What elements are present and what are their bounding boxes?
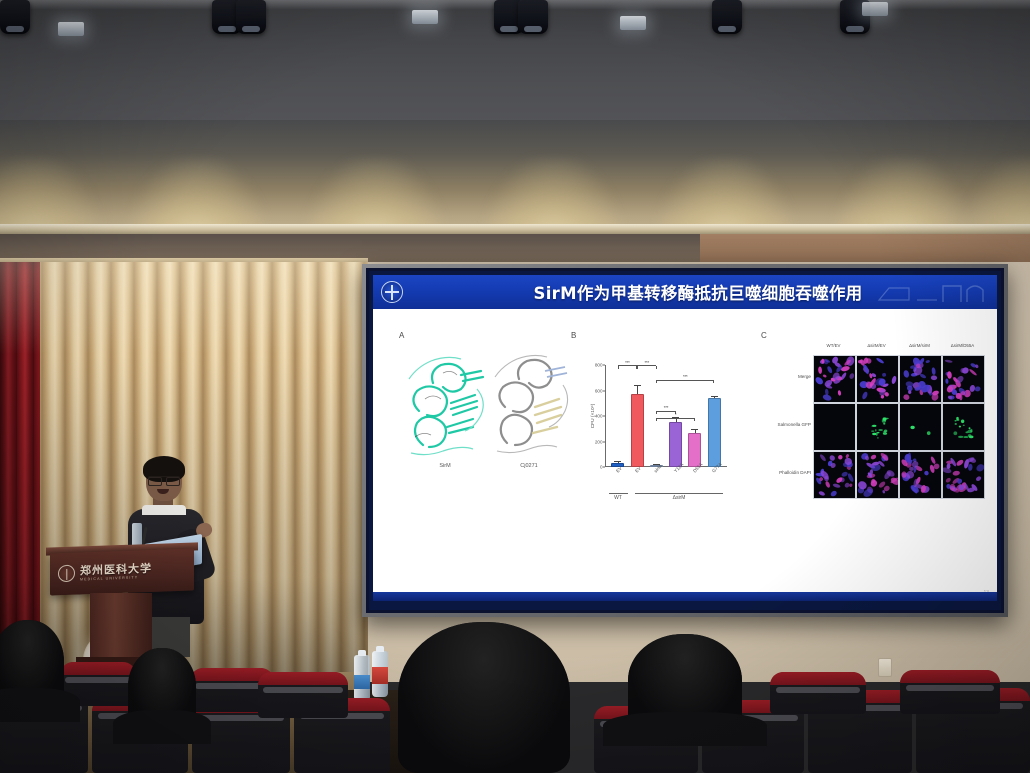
micro-cell xyxy=(900,356,941,402)
micro-column-header: ΔsirM/sirM xyxy=(898,343,942,348)
micro-cell xyxy=(943,452,984,498)
chart-significance-bracket xyxy=(656,380,714,381)
micro-cell xyxy=(943,356,984,402)
chart-group-label-wt: WT xyxy=(614,495,622,501)
slide-header: SirM作为甲基转移酶抵抗巨噬细胞吞噬作用 xyxy=(373,275,997,309)
ceiling-light-panel xyxy=(58,22,84,36)
chart-error-cap xyxy=(614,461,621,462)
seat-band xyxy=(65,677,132,683)
protein-caption-cj0271: Cj0271 xyxy=(499,463,559,469)
chart-y-tick-label: 200 xyxy=(595,439,603,444)
podium-stem xyxy=(90,593,152,663)
chart-significance-bracket xyxy=(637,365,656,366)
micro-row-label: Phalloidin DAPI xyxy=(761,470,811,476)
audience-shoulders xyxy=(113,710,211,744)
chart-bar xyxy=(631,394,644,467)
micro-column-header: ΔsirM/D55A xyxy=(941,343,985,348)
microscopy-grid xyxy=(813,355,985,499)
seat-band xyxy=(263,687,342,693)
institution-seal-icon xyxy=(381,281,403,303)
chart-y-axis xyxy=(605,365,606,467)
chart-group-label-mutant: ΔsirM xyxy=(673,495,686,501)
screen-bezel: SirM作为甲基转移酶抵抗巨噬细胞吞噬作用 A xyxy=(366,268,1004,613)
micro-row-label: Salmonella GFP xyxy=(761,422,811,428)
chart-significance-bracket xyxy=(656,418,695,419)
micro-cell xyxy=(857,452,898,498)
ceiling-light-panel xyxy=(620,16,646,30)
chart-error-bar xyxy=(637,385,638,394)
protein-structure-sirm xyxy=(403,349,489,461)
chart-significance-bracket xyxy=(618,365,637,366)
audience-shoulders xyxy=(603,712,767,746)
panel-a: A xyxy=(399,331,571,501)
micro-cell xyxy=(857,356,898,402)
chart-group-line-mutant xyxy=(635,493,723,494)
presentation-slide: SirM作为甲基转移酶抵抗巨噬细胞吞噬作用 A xyxy=(373,275,997,601)
audience-shoulders xyxy=(0,688,80,722)
chart-significance-star: *** xyxy=(664,405,669,410)
seat-headrest xyxy=(900,670,1000,683)
eyeglasses-icon xyxy=(148,476,180,483)
chart-y-tick-label: 800 xyxy=(595,363,603,368)
chart-error-cap xyxy=(691,429,698,430)
micro-column-header: ΔsirM/EV xyxy=(855,343,899,348)
ceiling-light-panel xyxy=(412,10,438,24)
speaker-collar xyxy=(142,505,186,515)
ceiling xyxy=(0,0,1030,140)
micro-cell xyxy=(814,404,855,450)
chart-y-tick xyxy=(603,467,605,468)
spotlight-icon xyxy=(236,0,266,34)
spotlight-icon xyxy=(0,0,30,34)
slide-footer-bar xyxy=(373,592,997,601)
micro-cell xyxy=(857,404,898,450)
micro-row-label: Merge xyxy=(761,374,811,380)
chart-significance-star: *** xyxy=(625,360,630,365)
audience-member xyxy=(628,634,742,730)
panel-b-letter: B xyxy=(571,331,576,340)
panel-b: B CFU (×10⁴) 0200400600800 *************… xyxy=(571,331,751,511)
seat-headrest xyxy=(770,672,866,685)
auditorium-seat xyxy=(258,672,348,718)
auditorium-seat xyxy=(900,670,1000,714)
chart-y-tick-label: 400 xyxy=(595,414,603,419)
ceiling-light-panel xyxy=(862,2,888,16)
protein-caption-sirm: SirM xyxy=(415,463,475,469)
spotlight-icon xyxy=(712,0,742,34)
chart-group-line-wt xyxy=(609,493,628,494)
chart-y-tick xyxy=(603,365,605,366)
podium-institution-en: MEDICAL UNIVERSITY xyxy=(80,575,138,581)
chart-significance-star: *** xyxy=(683,374,688,379)
audience-member xyxy=(128,648,196,728)
auditorium-seat xyxy=(770,672,866,714)
panel-a-letter: A xyxy=(399,331,404,340)
water-bottle xyxy=(354,655,370,701)
seat-band xyxy=(776,687,860,693)
micro-cell xyxy=(814,452,855,498)
slide-watermark-icon xyxy=(875,280,993,306)
university-emblem-icon xyxy=(58,565,75,583)
chart-y-tick xyxy=(603,390,605,391)
micro-cell xyxy=(814,356,855,402)
chart-significance-star: * xyxy=(675,412,677,417)
chart-y-tick-label: 0 xyxy=(600,465,603,470)
chart-significance-bracket xyxy=(656,411,675,412)
panel-c: C WT/EVΔsirM/EVΔsirM/sirMΔsirM/D55A Merg… xyxy=(761,331,989,511)
audience-member xyxy=(0,620,64,706)
chart-y-tick xyxy=(603,441,605,442)
spotlight-icon xyxy=(518,0,548,34)
chart-y-tick xyxy=(603,416,605,417)
audience-member xyxy=(398,622,570,773)
protein-structure-cj0271 xyxy=(491,349,571,461)
audience-head xyxy=(398,622,570,773)
micro-cell xyxy=(943,404,984,450)
micro-cell xyxy=(900,452,941,498)
chart-y-tick-label: 600 xyxy=(595,388,603,393)
presentation-photo-scene: SirM作为甲基转移酶抵抗巨噬细胞吞噬作用 A xyxy=(0,0,1030,773)
micro-column-header: WT/EV xyxy=(812,343,856,348)
wall-light-switch[interactable] xyxy=(878,658,892,677)
seat-band xyxy=(906,685,994,691)
projection-screen: SirM作为甲基转移酶抵抗巨噬细胞吞噬作用 A xyxy=(362,264,1008,617)
podium-front-panel: 郑州医科大学 MEDICAL UNIVERSITY xyxy=(50,548,194,595)
chart-error-cap xyxy=(711,396,718,397)
panel-c-letter: C xyxy=(761,331,767,340)
seat-headrest xyxy=(60,662,136,675)
chart-error-cap xyxy=(634,385,641,386)
chart-bar xyxy=(669,422,682,467)
micro-cell xyxy=(900,404,941,450)
podium: 郑州医科大学 MEDICAL UNIVERSITY xyxy=(46,545,198,660)
water-bottle xyxy=(372,651,388,697)
bar-chart: CFU (×10⁴) 0200400600800 ************* E… xyxy=(605,365,727,467)
slide-body: A xyxy=(373,309,997,601)
seat-headrest xyxy=(258,672,348,685)
chart-bar xyxy=(708,398,721,467)
upper-wall xyxy=(0,120,1030,240)
chart-significance-star: *** xyxy=(644,360,649,365)
